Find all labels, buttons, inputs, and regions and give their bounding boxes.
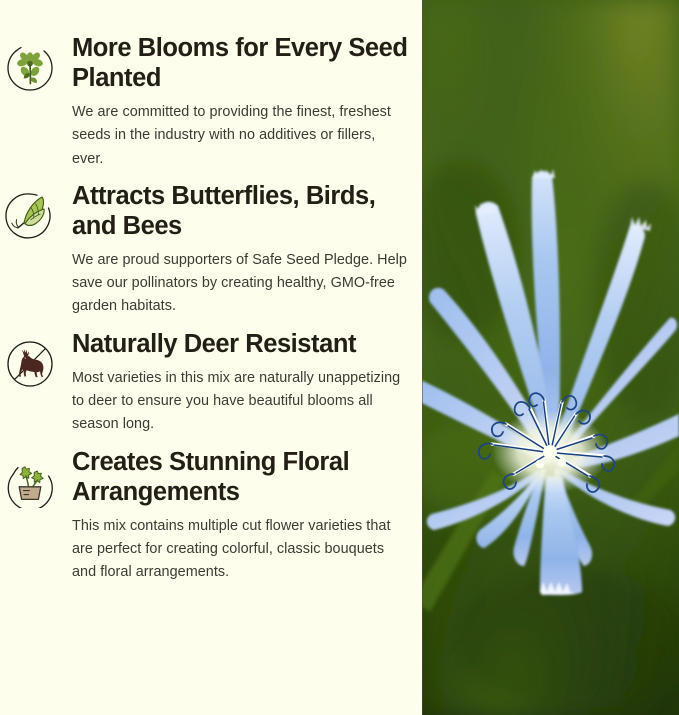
benefit-title: Attracts Butterflies, Birds, and Bees	[72, 182, 410, 242]
panel-divider	[422, 0, 423, 715]
flower-in-circle-icon	[4, 42, 56, 94]
benefit-item-deer-resistant: Naturally Deer Resistant Most varieties …	[0, 330, 410, 437]
benefit-title: More Blooms for Every Seed Planted	[72, 34, 410, 94]
potted-plant-in-circle-icon	[4, 456, 56, 508]
benefit-content: Creates Stunning Floral Arrangements Thi…	[72, 448, 410, 585]
benefit-content: Attracts Butterflies, Birds, and Bees We…	[72, 182, 410, 319]
benefit-description: We are committed to providing the finest…	[72, 101, 410, 171]
benefit-description: Most varieties in this mix are naturally…	[72, 367, 410, 437]
benefit-item-floral-arrangements: Creates Stunning Floral Arrangements Thi…	[0, 448, 410, 585]
benefit-title: Naturally Deer Resistant	[72, 330, 410, 360]
benefit-item-more-blooms: More Blooms for Every Seed Planted We ar…	[0, 34, 410, 171]
benefit-description: We are proud supporters of Safe Seed Ple…	[72, 249, 410, 319]
chicory-flower-photo	[422, 0, 679, 715]
benefits-list: More Blooms for Every Seed Planted We ar…	[0, 0, 422, 715]
product-feature-panel: More Blooms for Every Seed Planted We ar…	[0, 0, 679, 715]
deer-crossed-out-in-circle-icon	[4, 338, 56, 390]
benefit-content: More Blooms for Every Seed Planted We ar…	[72, 34, 410, 171]
benefit-title: Creates Stunning Floral Arrangements	[72, 448, 410, 508]
benefit-item-attracts-pollinators: Attracts Butterflies, Birds, and Bees We…	[0, 182, 410, 319]
benefit-description: This mix contains multiple cut flower va…	[72, 515, 410, 585]
benefit-content: Naturally Deer Resistant Most varieties …	[72, 330, 410, 437]
butterfly-in-circle-icon	[4, 190, 56, 242]
